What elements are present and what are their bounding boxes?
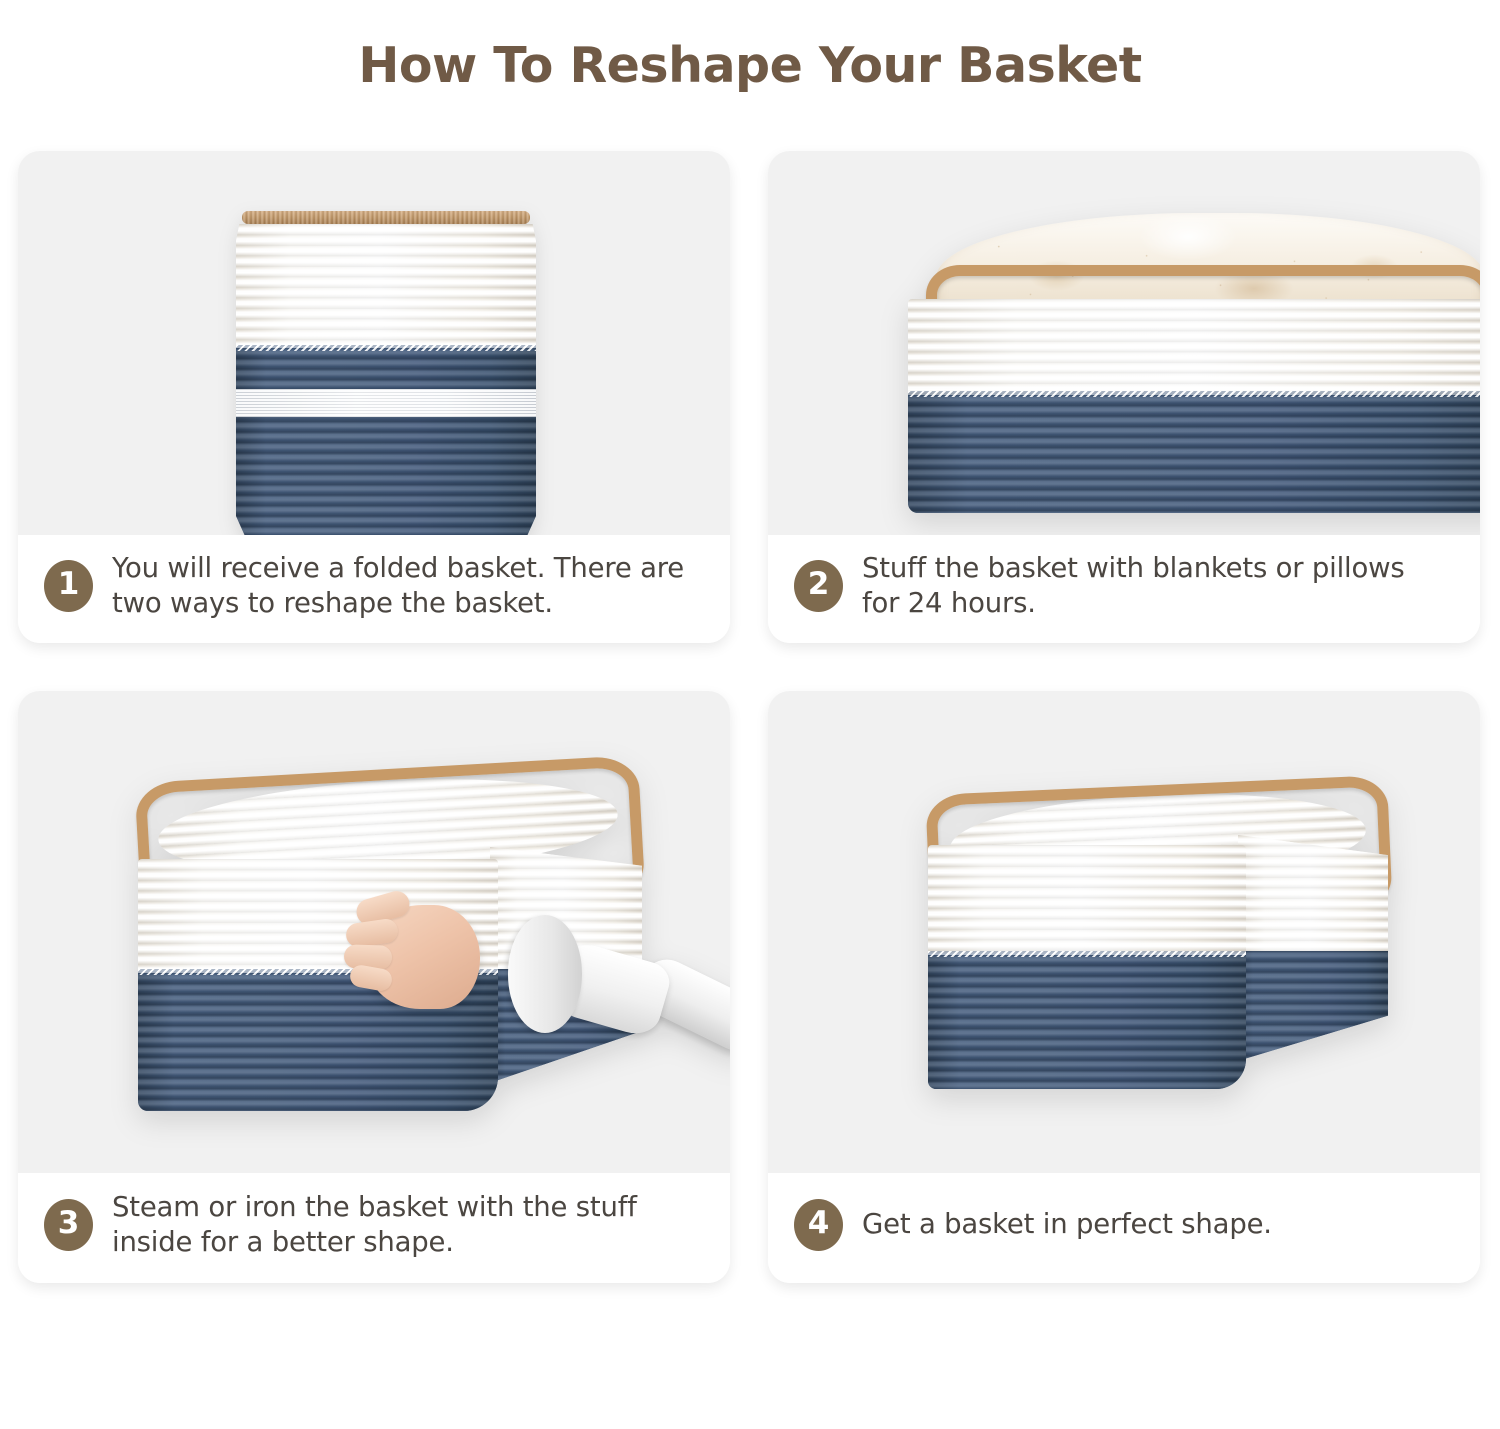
step-number-badge-4: 4 (794, 1199, 843, 1251)
basket-white-section (1238, 835, 1388, 951)
basket-navy-section (908, 395, 1480, 513)
steps-grid: 1 You will receive a folded basket. Ther… (0, 151, 1500, 1283)
step-3-text: Steam or iron the basket with the stuff … (112, 1190, 687, 1260)
basket-side-wall (1238, 835, 1388, 1061)
basket-navy-section (236, 348, 536, 535)
basket-white-section (236, 224, 536, 348)
basket-being-steamed (138, 769, 658, 1129)
step-3-image (18, 691, 730, 1173)
folded-basket-illustration (18, 151, 730, 535)
basket-white-section (908, 299, 1480, 395)
step-1-caption: 1 You will receive a folded basket. Ther… (18, 535, 730, 643)
stuffed-basket-illustration (768, 151, 1480, 535)
folded-basket (236, 211, 536, 535)
step-3-caption: 3 Steam or iron the basket with the stuf… (18, 1173, 730, 1283)
basket-front-wall (908, 299, 1480, 513)
folded-basket-body (236, 211, 536, 535)
basket-white-section (928, 845, 1246, 955)
basket-front-wall (928, 845, 1246, 1089)
steamer-plate (508, 915, 582, 1033)
step-card-3: 3 Steam or iron the basket with the stuf… (18, 691, 730, 1283)
step-4-caption: 4 Get a basket in perfect shape. (768, 1173, 1480, 1283)
step-1-text: You will receive a folded basket. There … (112, 551, 687, 621)
steaming-basket-illustration (18, 691, 730, 1173)
garment-steamer-icon (508, 915, 730, 1105)
steps-row-1: 1 You will receive a folded basket. Ther… (0, 151, 1500, 643)
step-2-caption: 2 Stuff the basket with blankets or pill… (768, 535, 1480, 643)
step-number-badge-3: 3 (44, 1199, 93, 1251)
step-card-2: 2 Stuff the basket with blankets or pill… (768, 151, 1480, 643)
step-number-badge-2: 2 (794, 560, 843, 612)
page-title: How To Reshape Your Basket (0, 33, 1500, 97)
basket-navy-section (928, 955, 1246, 1089)
perfect-shape-basket (928, 781, 1408, 1111)
step-2-text: Stuff the basket with blankets or pillow… (862, 551, 1437, 621)
basket-elastic-band (236, 389, 536, 417)
basket-seam-stitch (908, 391, 1480, 397)
steps-row-2: 3 Steam or iron the basket with the stuf… (0, 691, 1500, 1283)
perfect-basket-illustration (768, 691, 1480, 1173)
basket-tan-rim (242, 211, 530, 224)
basket-navy-section (1238, 951, 1388, 1061)
step-1-image (18, 151, 730, 535)
step-number-badge-1: 1 (44, 560, 93, 612)
step-2-image (768, 151, 1480, 535)
step-card-4: 4 Get a basket in perfect shape. (768, 691, 1480, 1283)
stuffed-basket (908, 213, 1480, 513)
step-4-text: Get a basket in perfect shape. (862, 1207, 1272, 1242)
basket-seam-stitch (928, 951, 1246, 957)
step-4-image (768, 691, 1480, 1173)
basket-seam-stitch (236, 345, 536, 351)
step-card-1: 1 You will receive a folded basket. Ther… (18, 151, 730, 643)
hand (338, 887, 488, 1015)
